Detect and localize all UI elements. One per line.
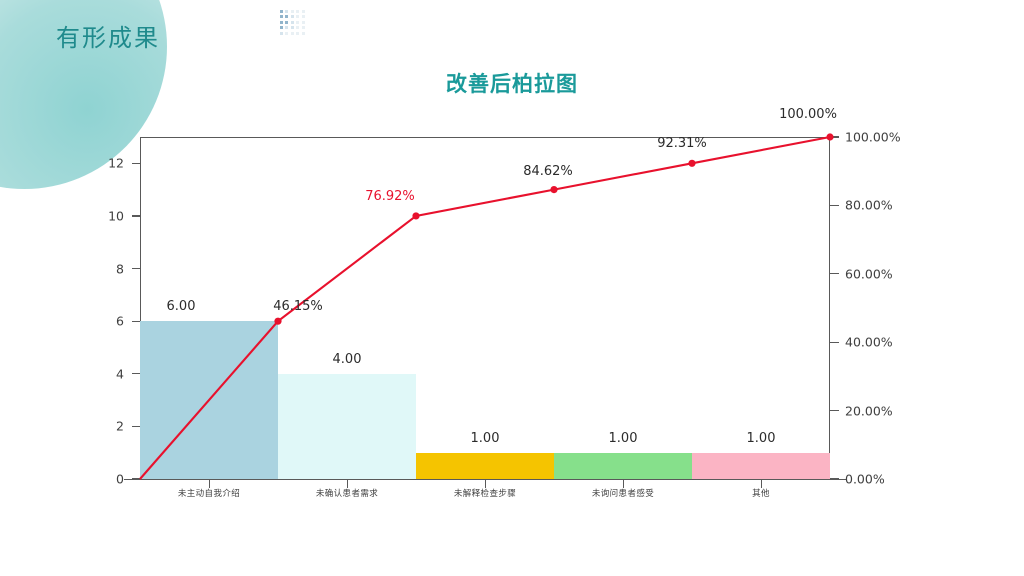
bar-value-label-4: 1.00 (609, 431, 638, 446)
bars-layer (140, 137, 830, 479)
bar-2[interactable] (278, 374, 416, 479)
y-axis-left-tick-label: 2 (84, 419, 124, 434)
y-axis-left-tick-label: 12 (84, 156, 124, 171)
y-axis-right-tick-label: 60.00% (845, 266, 893, 281)
y-axis-left-tick-label: 0 (84, 472, 124, 487)
y-axis-right-tick-label: 40.00% (845, 335, 893, 350)
cumulative-percent-label-1: 46.15% (273, 299, 323, 314)
bar-value-label-1: 6.00 (167, 299, 196, 314)
bar-5[interactable] (692, 453, 830, 479)
pareto-chart: 改善后柏拉图 024681012 0.00%20.00%40.00%60.00%… (0, 0, 1024, 576)
y-axis-right-tick (830, 410, 839, 411)
y-axis-right-tick (830, 205, 839, 206)
x-axis-category-label: 未询问患者感受 (592, 487, 654, 499)
bar-4[interactable] (554, 453, 692, 479)
y-axis-right-tick (830, 342, 839, 343)
bar-value-label-5: 1.00 (747, 431, 776, 446)
cumulative-percent-label-5: 100.00% (779, 107, 837, 122)
bar-value-label-2: 4.00 (333, 352, 362, 367)
x-axis-category-label: 未确认患者需求 (316, 487, 378, 499)
y-axis-left-tick-label: 6 (84, 314, 124, 329)
y-axis-right-tick-label: 100.00% (845, 130, 901, 145)
cumulative-percent-label-2: 76.92% (365, 189, 415, 204)
y-axis-left-tick-label: 10 (84, 208, 124, 223)
y-axis-right-tick-label: 80.00% (845, 198, 893, 213)
y-axis-right-tick (830, 478, 839, 479)
bar-3[interactable] (416, 453, 554, 479)
cumulative-percent-label-4: 92.31% (657, 136, 707, 151)
bar-1[interactable] (140, 321, 278, 479)
bar-value-label-3: 1.00 (471, 431, 500, 446)
cumulative-percent-label-3: 84.62% (523, 164, 573, 179)
chart-title: 改善后柏拉图 (0, 68, 1024, 98)
y-axis-right-tick-label: 0.00% (845, 472, 885, 487)
x-axis-category-label: 未解释检查步骤 (454, 487, 516, 499)
x-axis-category-label: 未主动自我介绍 (178, 487, 240, 499)
y-axis-left-tick-label: 4 (84, 366, 124, 381)
y-axis-right-tick (830, 136, 839, 137)
y-axis-right-tick (830, 273, 839, 274)
y-axis-left-tick-label: 8 (84, 261, 124, 276)
y-axis-right-tick-label: 20.00% (845, 403, 893, 418)
x-axis-category-label: 其他 (752, 487, 770, 499)
